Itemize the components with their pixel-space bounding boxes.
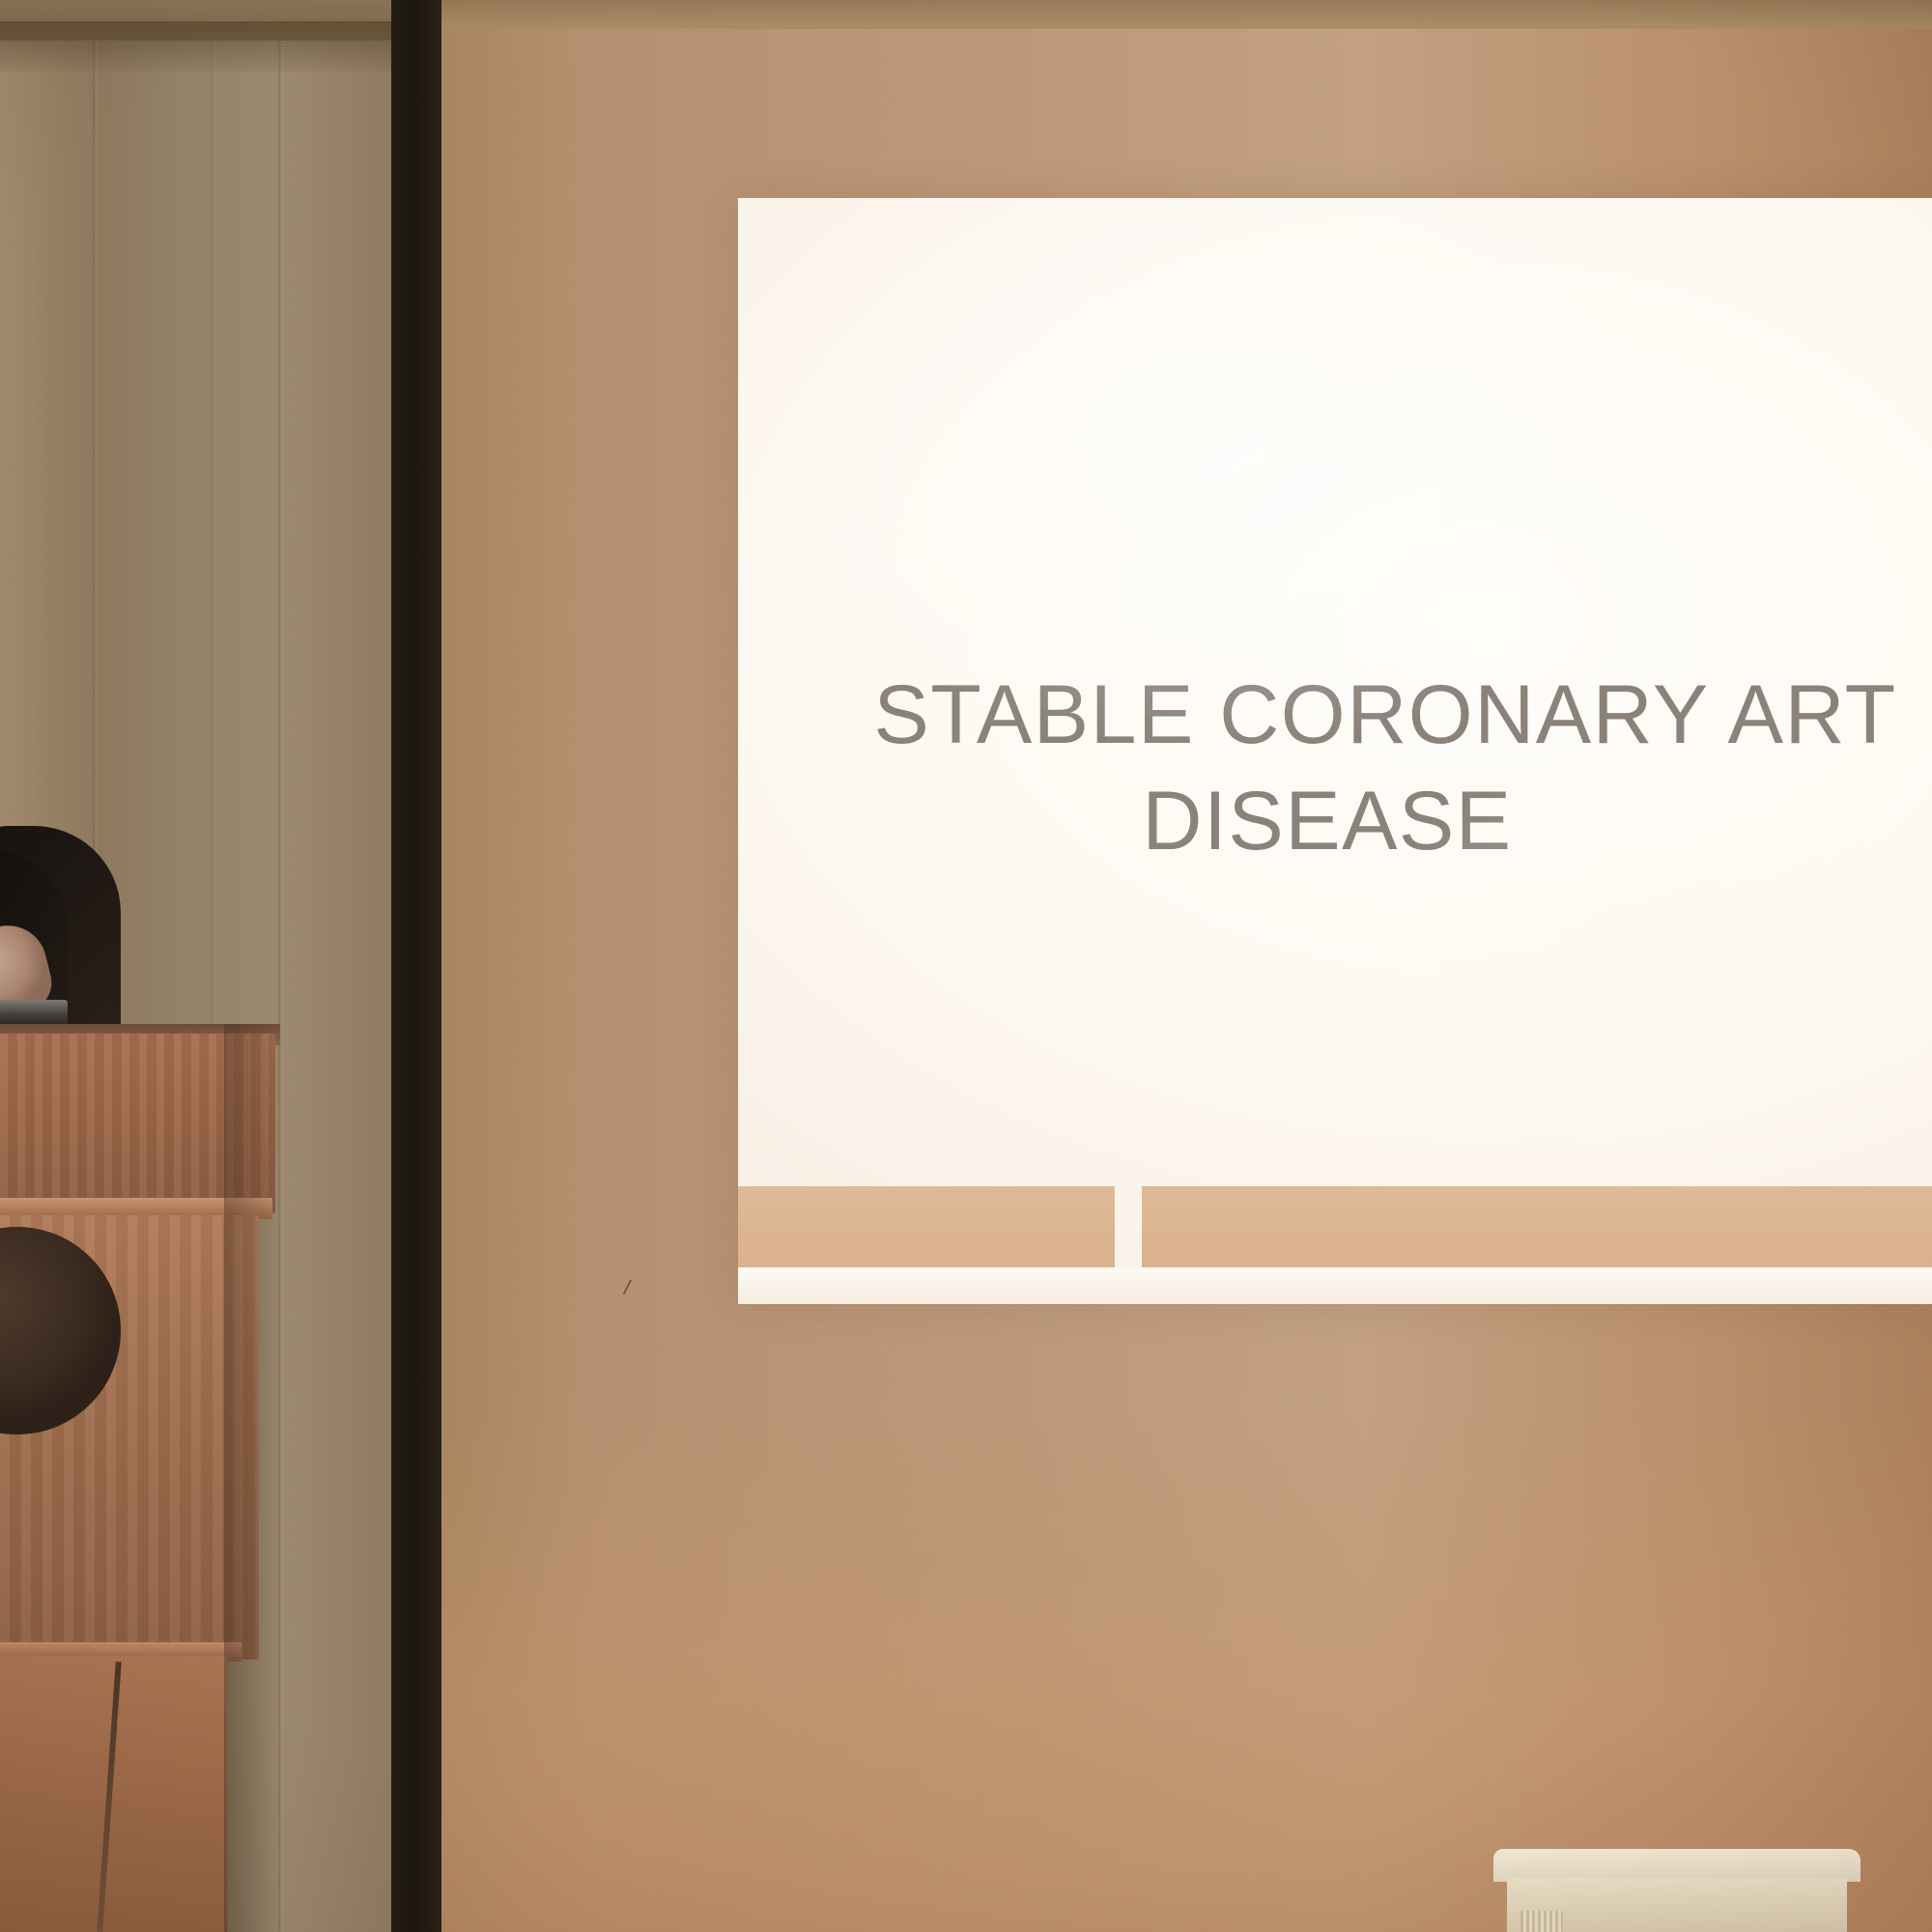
slide-title: STABLE CORONARY ART DISEASE <box>661 662 1932 874</box>
projection-screen: STABLE CORONARY ART DISEASE <box>738 198 1932 1304</box>
projector-rear-panel <box>1507 1878 1847 1932</box>
ceiling-band-right <box>440 0 1932 29</box>
slide-decorative-bar-left <box>738 1186 1115 1275</box>
slide-baseline-band <box>738 1267 1932 1304</box>
ceiling-projector <box>1493 1849 1861 1932</box>
projector-top-shell <box>1493 1849 1861 1882</box>
podium-laptop <box>0 1000 68 1025</box>
slide-title-line-2: DISEASE <box>545 768 1932 874</box>
lecture-hall-scene: STABLE CORONARY ART DISEASE <box>0 0 1932 1932</box>
podium-side-shadow <box>224 1024 280 1932</box>
slide-decorative-bar-right <box>1142 1186 1932 1275</box>
projector-vent-grille <box>1520 1911 1563 1932</box>
slide-footer <box>738 1150 1932 1304</box>
slide-title-line-1: STABLE CORONARY ART <box>873 668 1896 761</box>
dark-wall-column <box>391 0 441 1932</box>
ceiling-band-left-shadow <box>0 21 396 71</box>
